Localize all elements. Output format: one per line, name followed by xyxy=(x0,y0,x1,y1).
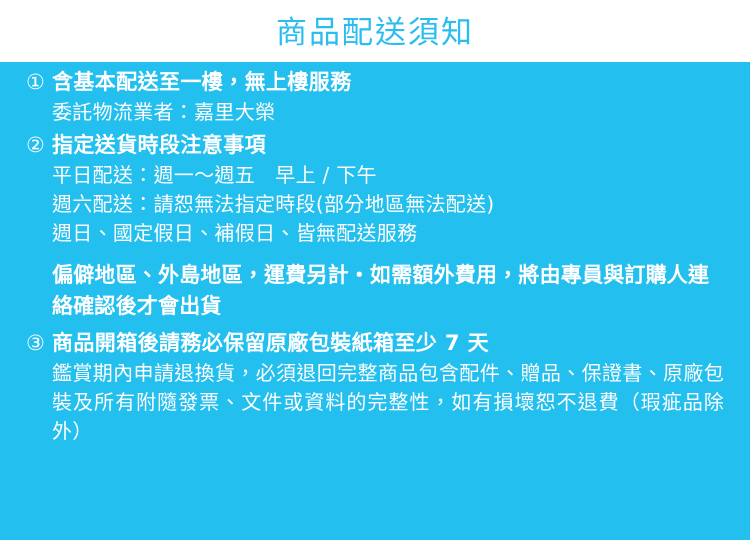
section-2-heading-row: ② 指定送貨時段注意事項 xyxy=(26,131,728,161)
section-3-heading-row: ③ 商品開箱後請務必保留原廠包裝紙箱至少 7 天 xyxy=(26,329,728,359)
section-2-line-1: 平日配送：週一～週五 早上 / 下午 xyxy=(52,161,728,190)
section-2-line-2: 週六配送：請恕無法指定時段(部分地區無法配送) xyxy=(52,190,728,219)
section-1-heading-row: ① 含基本配送至一樓，無上樓服務 xyxy=(26,68,728,98)
section-2-line-3: 週日、國定假日、補假日、皆無配送服務 xyxy=(52,219,728,248)
title-band: 商品配送須知 xyxy=(0,0,750,62)
notice-section-1: ① 含基本配送至一樓，無上樓服務 委託物流業者：嘉里大榮 xyxy=(26,68,728,127)
section-3-heading: 商品開箱後請務必保留原廠包裝紙箱至少 7 天 xyxy=(52,329,728,359)
delivery-notice-page: 商品配送須知 ① 含基本配送至一樓，無上樓服務 委託物流業者：嘉里大榮 ② 指定… xyxy=(0,0,750,540)
circled-number-2-icon: ② xyxy=(26,131,52,161)
section-1-heading: 含基本配送至一樓，無上樓服務 xyxy=(52,68,728,98)
section-2-emphasis-paragraph: 偏僻地區、外島地區，運費另計・如需額外費用，將由專員與訂購人連絡確認後才會出貨 xyxy=(52,260,712,321)
section-1-line-1: 委託物流業者：嘉里大榮 xyxy=(52,98,728,127)
section-3-paragraph: 鑑賞期內申請退換貨，必須退回完整商品包含配件、贈品、保證書、原廠包裝及所有附隨發… xyxy=(52,359,724,447)
circled-number-1-icon: ① xyxy=(26,68,52,98)
notice-section-3: ③ 商品開箱後請務必保留原廠包裝紙箱至少 7 天 鑑賞期內申請退換貨，必須退回完… xyxy=(26,329,728,446)
page-title: 商品配送須知 xyxy=(276,14,474,49)
notice-section-2: ② 指定送貨時段注意事項 平日配送：週一～週五 早上 / 下午 週六配送：請恕無… xyxy=(26,131,728,321)
section-2-heading: 指定送貨時段注意事項 xyxy=(52,131,728,161)
notice-panel: ① 含基本配送至一樓，無上樓服務 委託物流業者：嘉里大榮 ② 指定送貨時段注意事… xyxy=(0,62,750,540)
circled-number-3-icon: ③ xyxy=(26,329,52,359)
